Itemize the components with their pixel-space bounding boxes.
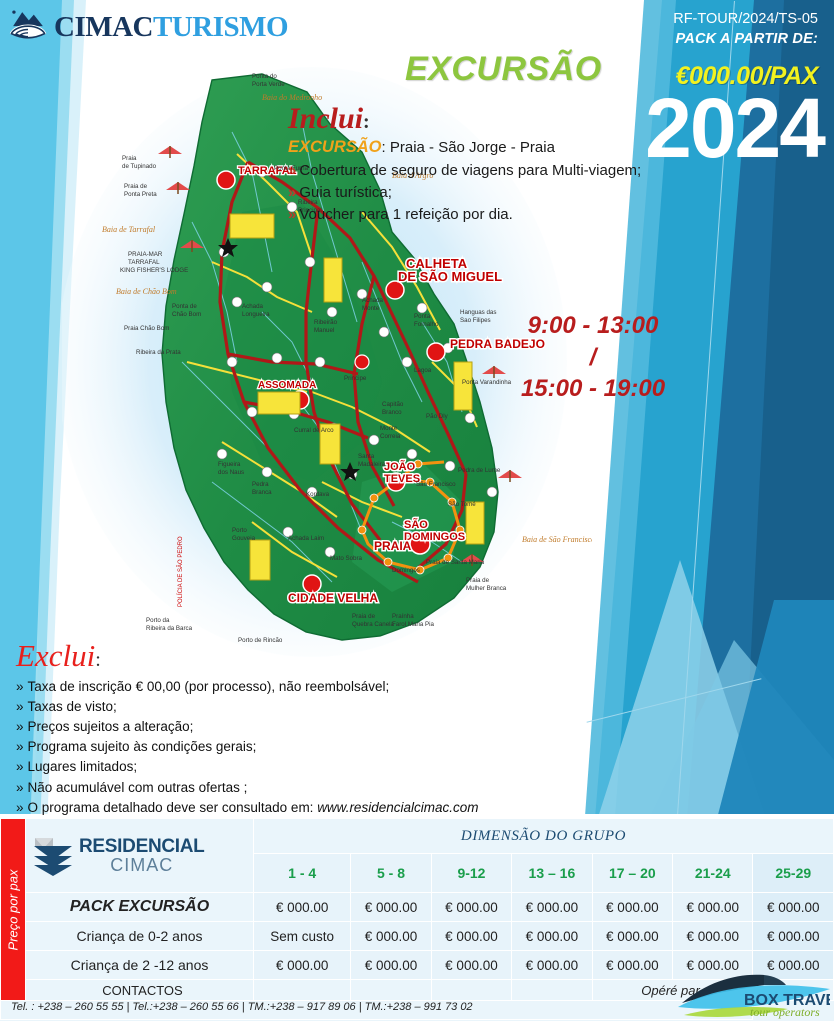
svg-text:Kordava: Kordava: [306, 491, 330, 498]
includes-heading-text: Inclui: [288, 102, 363, 135]
excludes-heading: Exclui:: [16, 640, 576, 671]
svg-text:Praia de Santa Maria: Praia de Santa Maria: [426, 559, 485, 566]
list-item: »O programa detalhado deve ser consultad…: [16, 798, 576, 818]
price-cell: € 000.00: [592, 951, 672, 980]
includes-block: Inclui: EXCURSÃO: Praia - São Jorge - Pr…: [288, 104, 668, 225]
price-cell: € 000.00: [753, 893, 834, 922]
svg-text:Praia de: Praia de: [124, 183, 148, 190]
right-panel-pale2: [584, 640, 834, 830]
schedule-line-1: 9:00 - 13:00: [498, 310, 688, 342]
svg-text:TEVES: TEVES: [384, 473, 420, 485]
svg-text:Gouveia: Gouveia: [232, 535, 256, 542]
reference-block: RF-TOUR/2024/TS-05 PACK A PARTIR DE:: [673, 10, 818, 49]
svg-text:Porto: Porto: [232, 527, 247, 534]
svg-text:TARRAFAL: TARRAFAL: [128, 259, 160, 266]
page-title: EXCURSÃO: [405, 50, 602, 89]
svg-text:Ribeira da Barca: Ribeira da Barca: [146, 625, 193, 632]
list-item: »Taxas de visto;: [16, 697, 576, 717]
price-cell: € 000.00: [254, 893, 351, 922]
svg-text:Sao Filipes: Sao Filipes: [460, 317, 491, 324]
svg-text:Praia de: Praia de: [352, 613, 376, 620]
svg-text:Madaleira: Madaleira: [358, 461, 386, 468]
bullet-icon: »: [16, 719, 24, 734]
includes-item-text: Guia turística;: [299, 184, 392, 201]
svg-text:Domingos: Domingos: [392, 567, 420, 574]
bullet-icon: »: [16, 739, 24, 754]
svg-text:PRAIA: PRAIA: [374, 539, 412, 553]
col-header-6: 21-24: [673, 854, 753, 893]
col-header-4: 13 – 16: [512, 854, 592, 893]
svg-text:São Francisco: São Francisco: [416, 481, 456, 488]
bullet-icon: »: [288, 162, 296, 179]
svg-text:Longueira: Longueira: [242, 311, 270, 318]
svg-text:Achada Laim: Achada Laim: [288, 535, 324, 542]
svg-text:CIDADE VELHA: CIDADE VELHA: [288, 591, 378, 605]
reference-code: RF-TOUR/2024/TS-05: [673, 10, 818, 30]
bullet-icon: »: [16, 699, 24, 714]
excludes-item-text: Programa sujeito às condições gerais;: [28, 739, 257, 754]
svg-text:Pedra de Lume: Pedra de Lume: [458, 467, 501, 474]
contacts-label[interactable]: CONTACTOS: [26, 980, 254, 1001]
svg-text:Ponta de: Ponta de: [172, 303, 197, 310]
price-cell: € 000.00: [431, 951, 511, 980]
website-link[interactable]: www.residencialcimac.com: [317, 800, 478, 815]
svg-text:Capitão: Capitão: [382, 401, 404, 408]
svg-text:Monte: Monte: [380, 425, 398, 432]
svg-text:JOÃO: JOÃO: [384, 460, 416, 473]
price-per-pax-text: Preço por pax: [6, 869, 21, 950]
right-panel-deep: [714, 600, 834, 830]
brand-logo: CIMACTURISMO: [8, 8, 288, 46]
svg-text:Hanguas das: Hanguas das: [460, 309, 496, 316]
svg-text:Ribeira da Prata: Ribeira da Prata: [136, 349, 181, 356]
brand-name-primary: CIMAC: [54, 11, 153, 43]
svg-text:Figueira: Figueira: [218, 461, 241, 468]
schedule-block: 9:00 - 13:00 / 15:00 - 19:00: [498, 310, 688, 405]
excludes-item-text: O programa detalhado deve ser consultado…: [28, 800, 318, 815]
price-cell: € 000.00: [592, 893, 672, 922]
schedule-separator: /: [498, 342, 688, 374]
brand-name-secondary: TURISMO: [153, 11, 288, 43]
price-cell: € 000.00: [512, 951, 592, 980]
svg-text:Branco: Branco: [382, 409, 402, 416]
list-item: »Preços sujeitos a alteração;: [16, 717, 576, 737]
spacer-cell: [431, 980, 511, 1001]
list-item: »Taxa de inscrição € 00,00 (por processo…: [16, 677, 576, 697]
hairline-2: [587, 678, 762, 723]
pack-from-label: PACK A PARTIR DE:: [673, 30, 818, 50]
svg-text:Lagoa: Lagoa: [414, 367, 432, 374]
price-per-pax-side-label: Preço por pax: [1, 819, 26, 1001]
row-label-crianca-2-12: Criança de 2 -12 anos: [26, 951, 254, 980]
boat-icon: BOX TRAVEL tour operators: [678, 963, 830, 1019]
price-cell: € 000.00: [431, 893, 511, 922]
price-cell: € 000.00: [512, 893, 592, 922]
list-item: »Programa sujeito às condições gerais;: [16, 737, 576, 757]
list-item: »Lugares limitados;: [16, 757, 576, 777]
excludes-item-text: Não acumulável com outras ofertas ;: [28, 780, 248, 795]
includes-route: EXCURSÃO: Praia - São Jorge - Praia: [288, 138, 668, 157]
svg-text:de Tupinado: de Tupinado: [122, 163, 157, 170]
svg-text:Porta Verde: Porta Verde: [252, 81, 285, 88]
excludes-item-text: Taxas de visto;: [28, 699, 117, 714]
svg-text:Branca: Branca: [252, 489, 272, 496]
svg-text:Correia: Correia: [380, 433, 401, 440]
svg-text:Manuel: Manuel: [314, 327, 334, 334]
poster-root: CIMACTURISMO RF-TOUR/2024/TS-05 PACK A P…: [0, 0, 834, 1021]
residencial-label: RESIDENCIAL: [79, 837, 205, 856]
svg-text:São Tomé: São Tomé: [448, 501, 476, 508]
col-header-5: 17 – 20: [592, 854, 672, 893]
list-item: »Não acumulável com outras ofertas ;: [16, 778, 576, 798]
svg-text:Mato Sobra: Mato Sobra: [330, 555, 363, 562]
svg-text:Mulher Branca: Mulher Branca: [466, 585, 507, 592]
schedule-line-2: 15:00 - 19:00: [498, 373, 688, 405]
svg-text:Principe: Principe: [344, 375, 367, 382]
group-size-header: DIMENSÃO DO GRUPO: [254, 819, 834, 854]
svg-text:Baia de Tarrafal: Baia de Tarrafal: [102, 225, 156, 234]
svg-text:Chão Bom: Chão Bom: [172, 311, 201, 318]
svg-text:PRAIA-MAR: PRAIA-MAR: [128, 251, 163, 258]
list-item: »Cobertura de seguro de viagens para Mul…: [288, 160, 668, 182]
col-header-7: 25-29: [753, 854, 834, 893]
excludes-item-text: Preços sujeitos a alteração;: [28, 719, 194, 734]
includes-route-label: EXCURSÃO: [288, 138, 382, 156]
includes-route-value: : Praia - São Jorge - Praia: [382, 139, 555, 156]
includes-item-text: Cobertura de seguro de viagens para Mult…: [299, 162, 641, 179]
svg-text:Quebra Canela: Quebra Canela: [352, 621, 395, 628]
svg-text:ASSOMADA: ASSOMADA: [258, 380, 316, 391]
table-row: PACK EXCURSÃO € 000.00 € 000.00 € 000.00…: [1, 893, 834, 922]
price-cell: € 000.00: [592, 922, 672, 951]
list-item: »Guia turística;: [288, 182, 668, 204]
includes-heading-colon: :: [363, 111, 370, 133]
includes-item-text: Voucher para 1 refeição por dia.: [299, 206, 512, 223]
bullet-icon: »: [288, 206, 296, 223]
svg-text:Praínha: Praínha: [392, 613, 414, 620]
svg-text:Fornalho: Fornalho: [414, 321, 439, 328]
svg-text:Farol Maria Pia: Farol Maria Pia: [392, 621, 435, 628]
bullet-icon: »: [16, 800, 24, 815]
phone-numbers: Tel. : +238 – 260 55 55 | Tel.:+238 – 26…: [1, 1001, 752, 1013]
svg-text:Ribeirão: Ribeirão: [314, 319, 338, 326]
table-row: Criança de 0-2 anos Sem custo € 000.00 €…: [1, 922, 834, 951]
svg-text:Porto da: Porto da: [146, 617, 170, 624]
price-cell: € 000.00: [431, 922, 511, 951]
svg-text:Monte: Monte: [362, 305, 380, 312]
price-cell: € 000.00: [753, 922, 834, 951]
svg-text:Pão Dly: Pão Dly: [426, 413, 449, 420]
list-item: »Voucher para 1 refeição por dia.: [288, 204, 668, 226]
residencial-cimac-logo: RESIDENCIAL CIMAC: [26, 819, 254, 893]
bullet-icon: »: [16, 679, 24, 694]
price-cell: Sem custo: [254, 922, 351, 951]
excludes-heading-colon: :: [95, 649, 101, 671]
right-panel-pale: [584, 560, 834, 830]
col-header-3: 9-12: [431, 854, 511, 893]
svg-text:Praia Chão Bom: Praia Chão Bom: [124, 325, 169, 332]
phones-cell: Tel. : +238 – 260 55 55 | Tel.:+238 – 26…: [1, 1001, 753, 1020]
svg-text:Praia de: Praia de: [466, 577, 490, 584]
svg-text:dos Naus: dos Naus: [218, 469, 244, 476]
price-cell: € 000.00: [512, 922, 592, 951]
svg-text:POLÍCIA DE SÃO PEDRO: POLÍCIA DE SÃO PEDRO: [177, 536, 184, 607]
excludes-item-text: Taxa de inscrição € 00,00 (por processo)…: [28, 679, 390, 694]
spacer-cell: [512, 980, 592, 1001]
svg-text:Achada: Achada: [242, 303, 264, 310]
spacer-cell: [351, 980, 431, 1001]
price-cell: € 000.00: [351, 893, 431, 922]
svg-text:Praia: Praia: [122, 155, 137, 162]
bullet-icon: »: [16, 780, 24, 795]
includes-heading: Inclui:: [288, 104, 668, 134]
col-header-1: 1 - 4: [254, 854, 351, 893]
svg-text:Ponta do: Ponta do: [252, 73, 277, 80]
svg-text:Achada: Achada: [362, 297, 384, 304]
svg-text:Baia do Medronho: Baia do Medronho: [262, 93, 322, 102]
svg-text:Pedra: Pedra: [252, 481, 269, 488]
map-rotated-label: POLÍCIA DE SÃO PEDRO: [177, 536, 184, 607]
row-label-pack-excursao: PACK EXCURSÃO: [26, 893, 254, 922]
spacer-cell: [254, 980, 351, 1001]
box-travel-tagline: tour operators: [750, 1005, 820, 1019]
chevron-stack-icon: [32, 834, 74, 878]
year-label: 2024: [645, 86, 824, 170]
svg-text:Baia de São Francisco: Baia de São Francisco: [522, 535, 592, 544]
row-label-crianca-0-2: Criança de 0-2 anos: [26, 922, 254, 951]
svg-text:Curral de Arco: Curral de Arco: [294, 427, 334, 434]
brand-text: CIMACTURISMO: [54, 13, 288, 42]
box-travel-logo: BOX TRAVEL tour operators: [678, 963, 830, 1019]
cimac-label: CIMAC: [79, 856, 205, 874]
price-cell: € 000.00: [254, 951, 351, 980]
table-row-group-header: Preço por pax RESIDENCIAL CIMAC: [1, 819, 834, 854]
svg-text:Ponta: Ponta: [414, 313, 431, 320]
price-cell: € 000.00: [351, 951, 431, 980]
svg-text:DE SÃO MIGUEL: DE SÃO MIGUEL: [398, 269, 502, 284]
bullet-icon: »: [288, 184, 296, 201]
excludes-heading-text: Exclui: [16, 638, 95, 673]
price-cell: € 000.00: [351, 922, 431, 951]
svg-text:KING FISHER'S LODGE: KING FISHER'S LODGE: [120, 267, 188, 274]
price-cell: € 000.00: [673, 893, 753, 922]
svg-text:Ponta Preta: Ponta Preta: [124, 191, 157, 198]
col-header-2: 5 - 8: [351, 854, 431, 893]
excludes-item-text: Lugares limitados;: [28, 759, 138, 774]
price-cell: € 000.00: [673, 922, 753, 951]
includes-list: »Cobertura de seguro de viagens para Mul…: [288, 160, 668, 225]
excludes-list: »Taxa de inscrição € 00,00 (por processo…: [16, 677, 576, 818]
svg-text:Baia de Chão Bom: Baia de Chão Bom: [116, 287, 177, 296]
excludes-block: Exclui: »Taxa de inscrição € 00,00 (por …: [16, 640, 576, 818]
mountain-wave-icon: [8, 8, 48, 46]
bullet-icon: »: [16, 759, 24, 774]
svg-text:Santa: Santa: [358, 453, 375, 460]
